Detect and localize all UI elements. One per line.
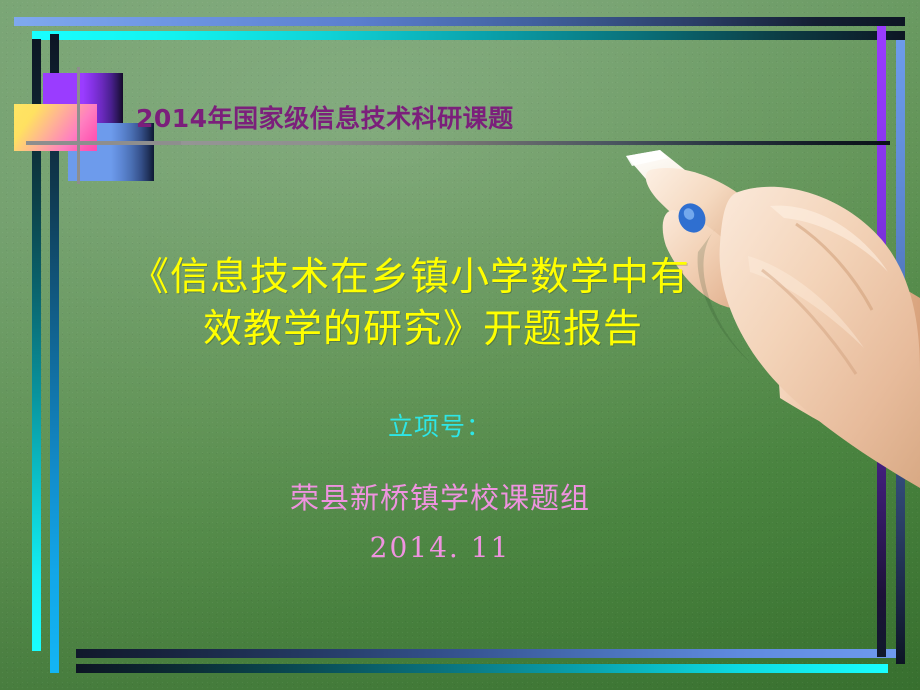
research-group-name: 荣县新桥镇学校课题组: [60, 475, 820, 517]
frame-bar-top-outer: [14, 17, 905, 26]
frame-bar-bottom-outer: [76, 649, 905, 658]
slide-date: 2014. 11: [60, 531, 820, 564]
frame-bar-top-inner: [32, 31, 905, 40]
decor-crosshair-vertical: [77, 67, 80, 184]
header-divider-rule: [74, 141, 890, 145]
slide-main-title: 《信息技术在乡镇小学数学中有 效教学的研究》开题报告: [60, 252, 760, 357]
main-title-line-1: 《信息技术在乡镇小学数学中有: [60, 252, 760, 304]
frame-bar-bottom-inner: [76, 664, 888, 673]
main-title-line-2: 效教学的研究》开题报告: [60, 304, 760, 356]
subject-code-label: 立项号：: [60, 407, 820, 443]
decor-crosshair-horizontal: [26, 141, 181, 145]
slide-header-title: 2014年国家级信息技术科研课题: [136, 99, 514, 135]
presentation-slide: 2014年国家级信息技术科研课题 《信息技术在乡镇小学数学中有 效教学的研究》开…: [0, 0, 920, 690]
